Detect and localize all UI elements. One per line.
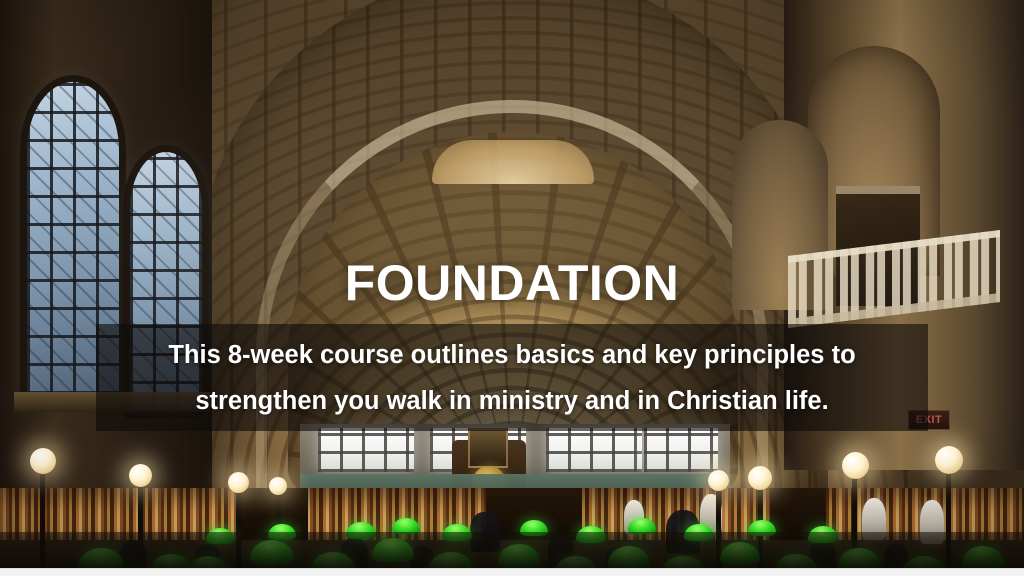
globe-lamp <box>935 446 963 474</box>
caption-text: This 8-week course outlines basics and k… <box>132 332 892 424</box>
globe-lamp <box>30 448 56 474</box>
dome-oculus <box>432 140 594 184</box>
globe-lamp <box>228 472 249 493</box>
globe-lamp <box>129 464 152 487</box>
far-window-4 <box>644 428 718 472</box>
central-portrait <box>468 428 508 468</box>
globe-lamp <box>748 466 772 490</box>
caption-band: This 8-week course outlines basics and k… <box>96 324 928 431</box>
globe-lamp <box>842 452 869 479</box>
globe-lamp <box>708 470 729 491</box>
foreground-floor-shadow <box>0 532 1024 568</box>
far-window-1 <box>318 428 414 472</box>
far-window-3 <box>546 428 642 472</box>
globe-lamp <box>269 477 287 495</box>
page-title: FOUNDATION <box>0 258 1024 308</box>
slide: EXIT FOUNDATION This 8-week course outli… <box>0 0 1024 576</box>
bottom-page-strip <box>0 568 1024 576</box>
